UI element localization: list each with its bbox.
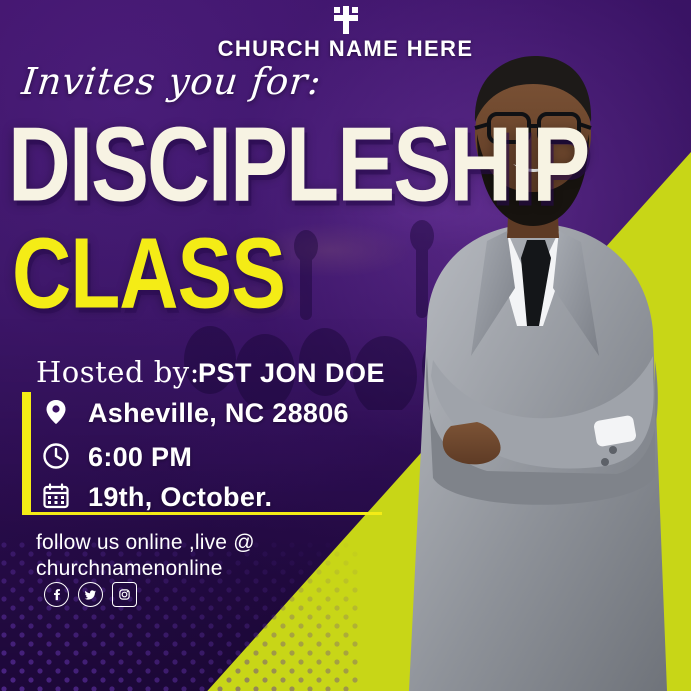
page-title: DISCIPLESHIP	[8, 115, 588, 216]
calendar-icon	[42, 482, 70, 510]
facebook-icon[interactable]	[44, 582, 69, 607]
host-name: PST JON DOE	[198, 358, 385, 389]
location-pin-icon	[42, 398, 70, 426]
detail-date: 19th, October.	[88, 482, 272, 513]
accent-vertical-bar	[22, 392, 31, 512]
church-name: CHURCH NAME HERE	[0, 36, 691, 62]
clock-icon	[42, 442, 70, 470]
social-links[interactable]	[44, 582, 137, 607]
church-cross-icon	[331, 4, 361, 36]
instagram-icon[interactable]	[112, 582, 137, 607]
detail-location: Asheville, NC 28806	[88, 398, 349, 429]
follow-line-1: follow us online ,live @	[36, 530, 255, 556]
hosted-by-label: Hosted by:	[36, 355, 200, 389]
page-subtitle: CLASS	[12, 227, 285, 322]
follow-us-block: follow us online ,live @ churchnamenonli…	[36, 530, 255, 583]
detail-time: 6:00 PM	[88, 442, 192, 473]
follow-line-2: churchnamenonline	[36, 556, 255, 582]
poster-canvas: CHURCH NAME HERE Invites you for: DISCIP…	[0, 0, 691, 691]
invites-text: Invites you for:	[20, 60, 324, 103]
twitter-icon[interactable]	[78, 582, 103, 607]
